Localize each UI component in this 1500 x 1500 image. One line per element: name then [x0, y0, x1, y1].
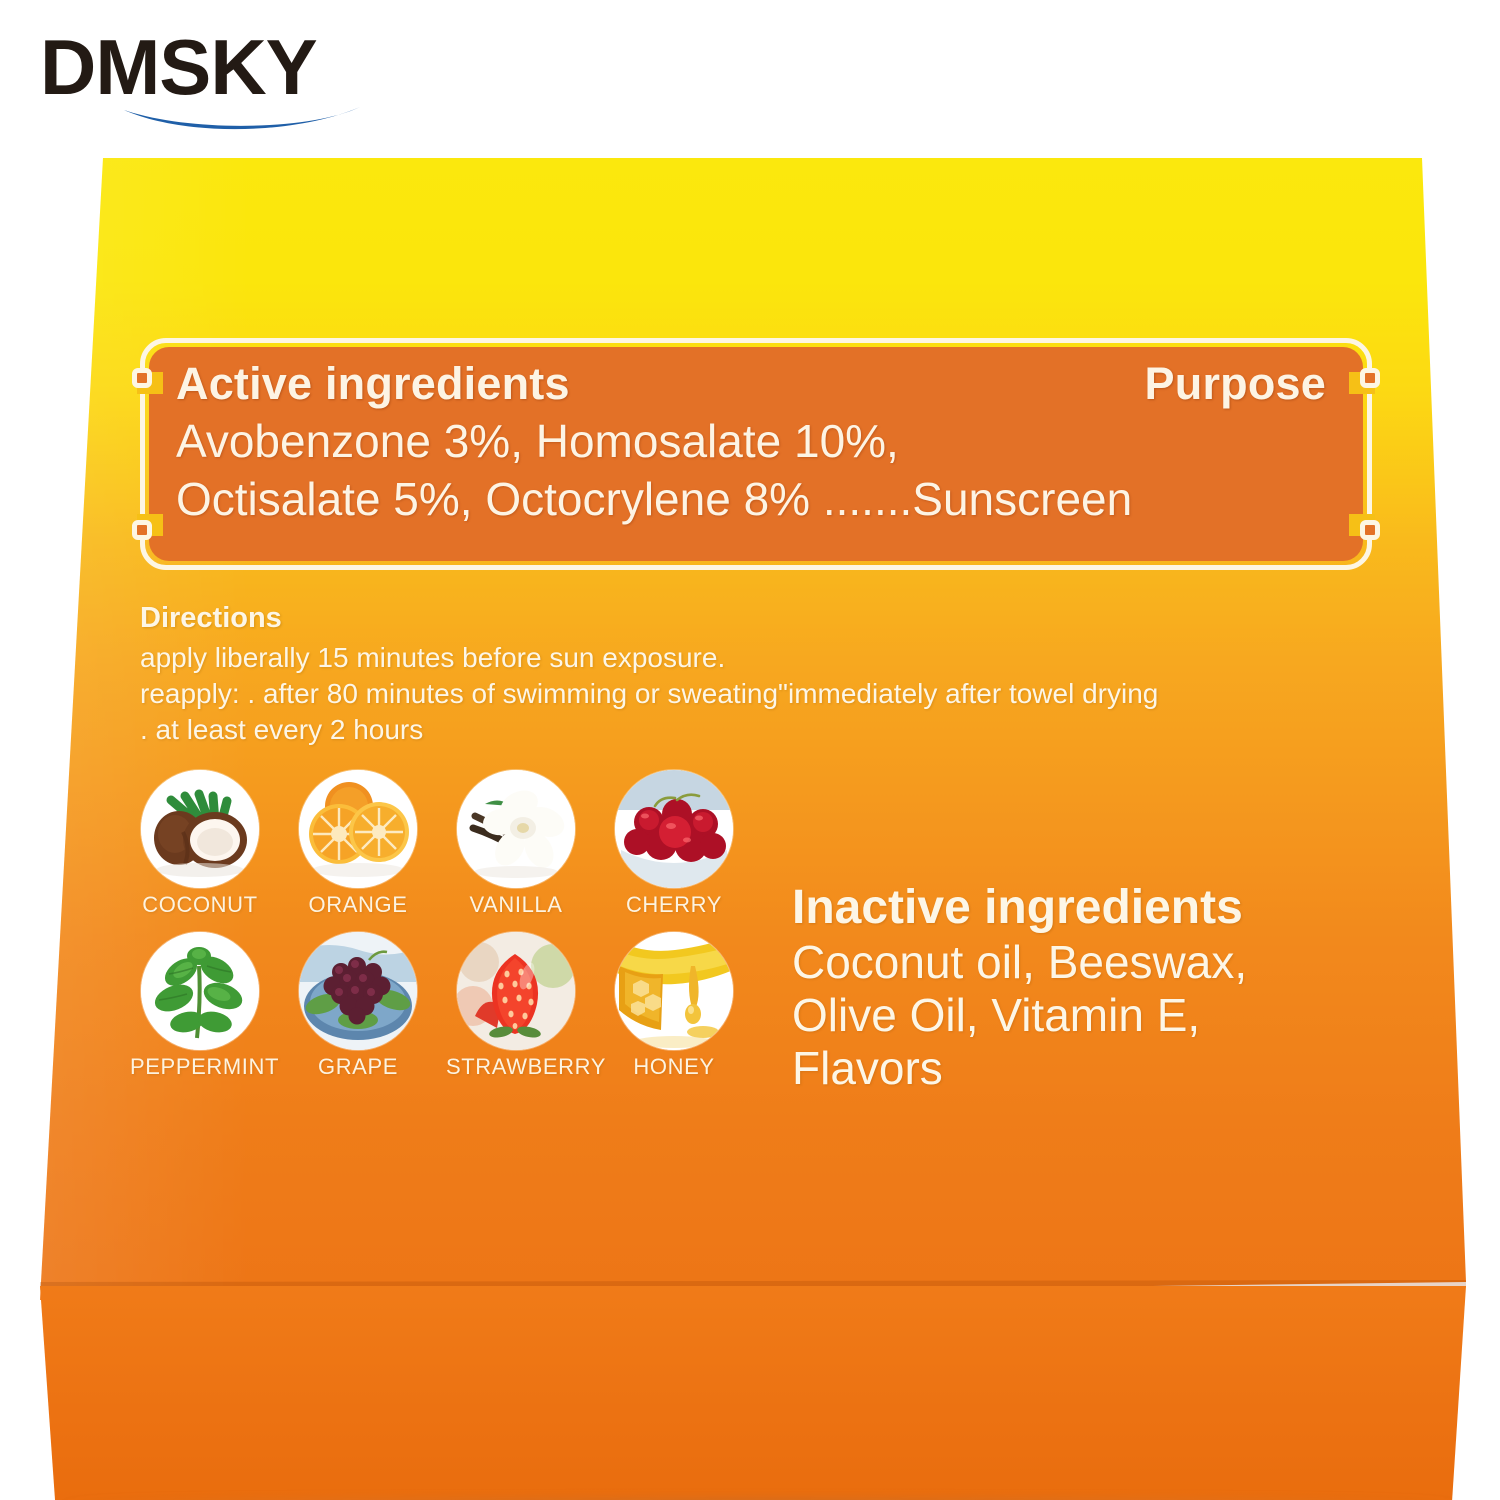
- active-ingredients-heading: Active ingredients: [176, 358, 570, 410]
- vanilla-icon: [457, 770, 575, 888]
- brand-wordmark: DMSKY: [40, 28, 370, 106]
- honey-icon: [615, 932, 733, 1050]
- active-ingredients-content: Active ingredients Purpose Avobenzone 3%…: [176, 358, 1342, 558]
- coconut-icon: [141, 770, 259, 888]
- flavor-item-cherry: CHERRY: [604, 770, 744, 918]
- flavor-label: HONEY: [604, 1054, 744, 1080]
- active-ingredients-line-1: Avobenzone 3%, Homosalate 10%,: [176, 412, 1342, 470]
- flavor-label: COCONUT: [130, 892, 270, 918]
- flavor-item-honey: HONEY: [604, 932, 744, 1080]
- brand-logo: DMSKY: [40, 28, 370, 138]
- flavor-item-coconut: COCONUT: [130, 770, 270, 918]
- flavor-item-vanilla: VANILLA: [446, 770, 586, 918]
- inactive-ingredients-section: Inactive ingredients Coconut oil, Beeswa…: [792, 880, 1412, 1095]
- cherry-icon: [615, 770, 733, 888]
- directions-heading: Directions: [140, 602, 1390, 635]
- active-ingredients-line-2: Octisalate 5%, Octocrylene 8% .......Sun…: [176, 470, 1342, 528]
- active-ingredients-panel: Active ingredients Purpose Avobenzone 3%…: [140, 338, 1372, 570]
- strawberry-icon: [457, 932, 575, 1050]
- flavor-label: VANILLA: [446, 892, 586, 918]
- flavor-item-orange: ORANGE: [288, 770, 428, 918]
- carton-front-face: [0, 1286, 1500, 1500]
- brand-swoosh-icon: [122, 106, 362, 136]
- product-package-image: DMSKY: [0, 0, 1500, 1500]
- flavor-row-1: COCONUT: [130, 770, 790, 918]
- flavor-label: PEPPERMINT: [130, 1054, 270, 1080]
- flavor-row-2: PEPPERMINT: [130, 932, 790, 1080]
- inactive-ingredients-heading: Inactive ingredients: [792, 880, 1412, 936]
- flavor-item-grape: GRAPE: [288, 932, 428, 1080]
- purpose-heading: Purpose: [1145, 358, 1342, 410]
- flavor-label: CHERRY: [604, 892, 744, 918]
- inactive-ingredients-line-3: Flavors: [792, 1042, 1412, 1095]
- inactive-ingredients-line-1: Coconut oil, Beeswax,: [792, 936, 1412, 989]
- carton-printed-content: Active ingredients Purpose Avobenzone 3%…: [0, 140, 1500, 1300]
- flavor-label: GRAPE: [288, 1054, 428, 1080]
- panel-notch-inner-top-left: [132, 368, 152, 388]
- flavor-item-strawberry: STRAWBERRY: [446, 932, 586, 1080]
- directions-line-3: . at least every 2 hours: [140, 712, 1390, 748]
- directions-section: Directions apply liberally 15 minutes be…: [140, 602, 1390, 748]
- flavor-label: STRAWBERRY: [446, 1054, 586, 1080]
- sunscreen-carton: Active ingredients Purpose Avobenzone 3%…: [0, 140, 1500, 1390]
- panel-notch-inner-bottom-left: [132, 520, 152, 540]
- panel-notch-inner-bottom-right: [1360, 520, 1380, 540]
- panel-notch-inner-top-right: [1360, 368, 1380, 388]
- directions-line-2: reapply: . after 80 minutes of swimming …: [140, 676, 1390, 712]
- peppermint-icon: [141, 932, 259, 1050]
- flavor-label: ORANGE: [288, 892, 428, 918]
- inactive-ingredients-line-2: Olive Oil, Vitamin E,: [792, 989, 1412, 1042]
- orange-icon: [299, 770, 417, 888]
- active-ingredients-header-row: Active ingredients Purpose: [176, 358, 1342, 410]
- flavor-item-peppermint: PEPPERMINT: [130, 932, 270, 1080]
- grape-icon: [299, 932, 417, 1050]
- flavor-grid: COCONUT: [130, 770, 790, 1094]
- directions-line-1: apply liberally 15 minutes before sun ex…: [140, 640, 1390, 676]
